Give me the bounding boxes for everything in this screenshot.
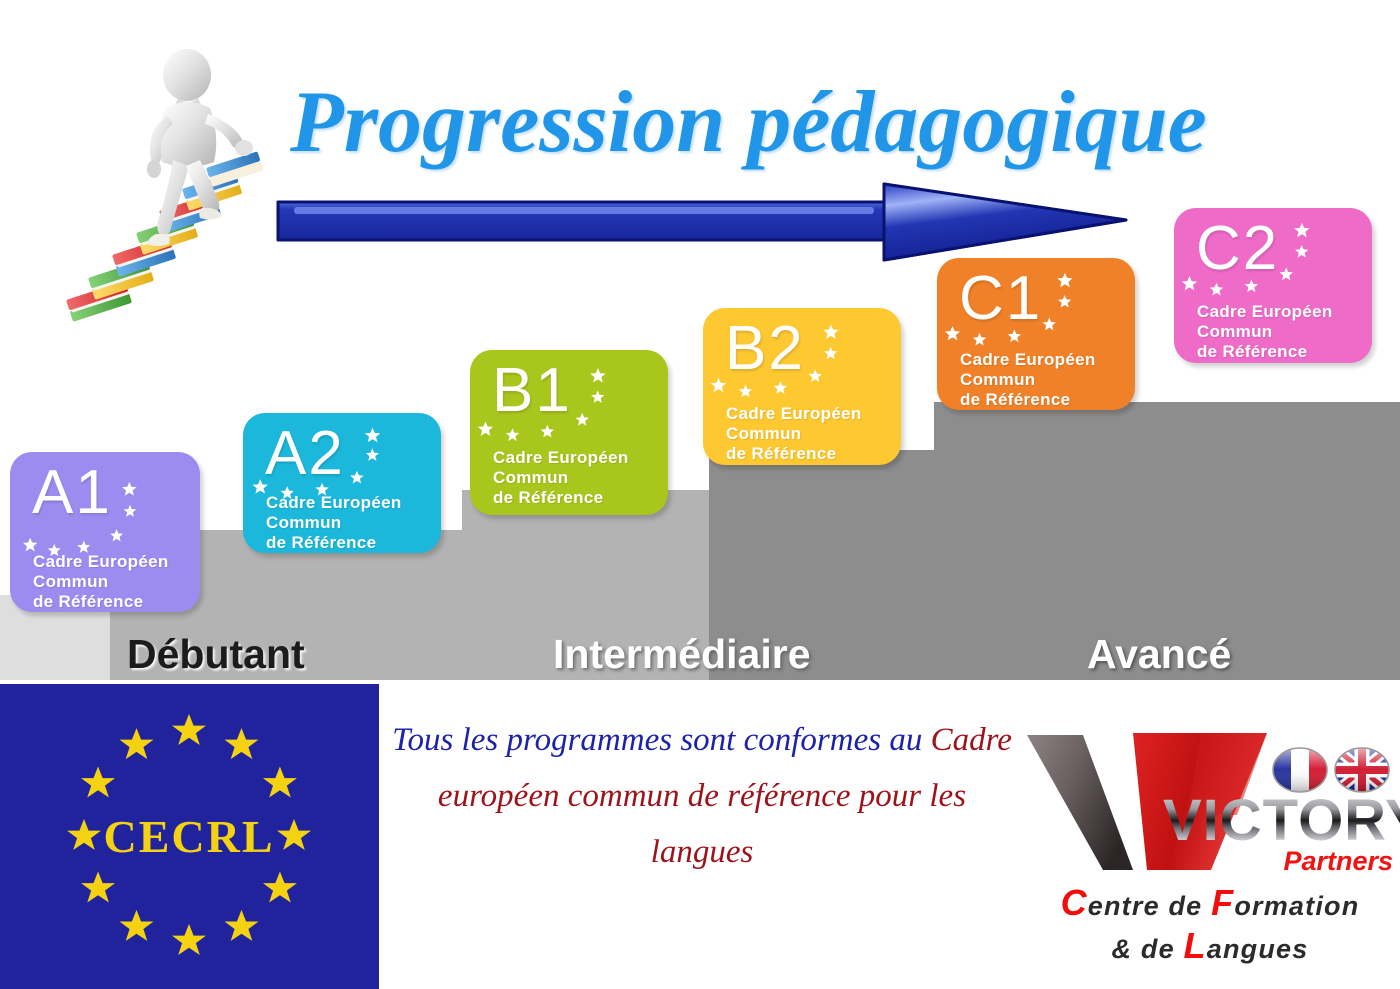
cecr-text-a1: Cadre EuropéenCommunde Référence	[33, 552, 169, 612]
logo-subtitle-line2: & de Langues	[1020, 926, 1400, 969]
level-card-a2[interactable]: A2 Cadre EuropéenCommunde Référence	[243, 413, 441, 553]
level-card-a1[interactable]: A1 Cadre EuropéenCommunde Référence	[10, 452, 200, 612]
cecr-text-b1: Cadre EuropéenCommunde Référence	[493, 448, 629, 508]
progress-arrow	[272, 170, 1132, 270]
tagline: Tous les programmes sont conformes au Ca…	[392, 712, 1012, 952]
page-title: Progression pédagogique	[290, 78, 1390, 168]
level-code-b2: B2	[725, 314, 805, 384]
logo-partners-text: Partners	[1283, 846, 1393, 876]
level-code-a1: A1	[32, 458, 112, 528]
logo-subtitle-line1: Centre de Formation	[1020, 883, 1400, 926]
person-climbing-books-illustration	[60, 48, 300, 348]
step-label-avance: Avancé	[1087, 634, 1231, 675]
infographic-canvas: Débutant Intermédiaire Avancé A1 Cadre E…	[0, 0, 1400, 989]
cecr-text-c1: Cadre EuropéenCommunde Référence	[960, 350, 1096, 410]
cecr-text-c2: Cadre EuropéenCommunde Référence	[1197, 302, 1333, 362]
level-code-c2: C2	[1196, 214, 1279, 284]
logo-subtitle: Centre de Formation & de Langues	[1020, 883, 1400, 969]
eu-flag-cecrl: CECRL	[0, 684, 379, 989]
tagline-blue: Tous les programmes sont conformes au	[392, 722, 930, 758]
language-flag-badges	[1272, 742, 1390, 798]
cecr-text-b2: Cadre EuropéenCommunde Référence	[726, 404, 862, 464]
level-code-b1: B1	[492, 356, 572, 426]
cecr-text-a2: Cadre EuropéenCommunde Référence	[266, 493, 402, 553]
level-code-c1: C1	[959, 264, 1042, 334]
level-card-b1[interactable]: B1 Cadre EuropéenCommunde Référence	[470, 350, 668, 515]
figure-3d	[147, 49, 253, 246]
level-card-c2[interactable]: C2 Cadre EuropéenCommunde Référence	[1174, 208, 1372, 363]
step-label-intermediaire: Intermédiaire	[553, 634, 811, 675]
level-card-b2[interactable]: B2 Cadre EuropéenCommunde Référence	[703, 308, 901, 465]
step-label-debutant: Débutant	[127, 634, 305, 675]
svg-text:CECRL: CECRL	[103, 811, 274, 862]
level-card-c1[interactable]: C1 Cadre EuropéenCommunde Référence	[937, 258, 1135, 410]
level-code-a2: A2	[265, 419, 345, 489]
